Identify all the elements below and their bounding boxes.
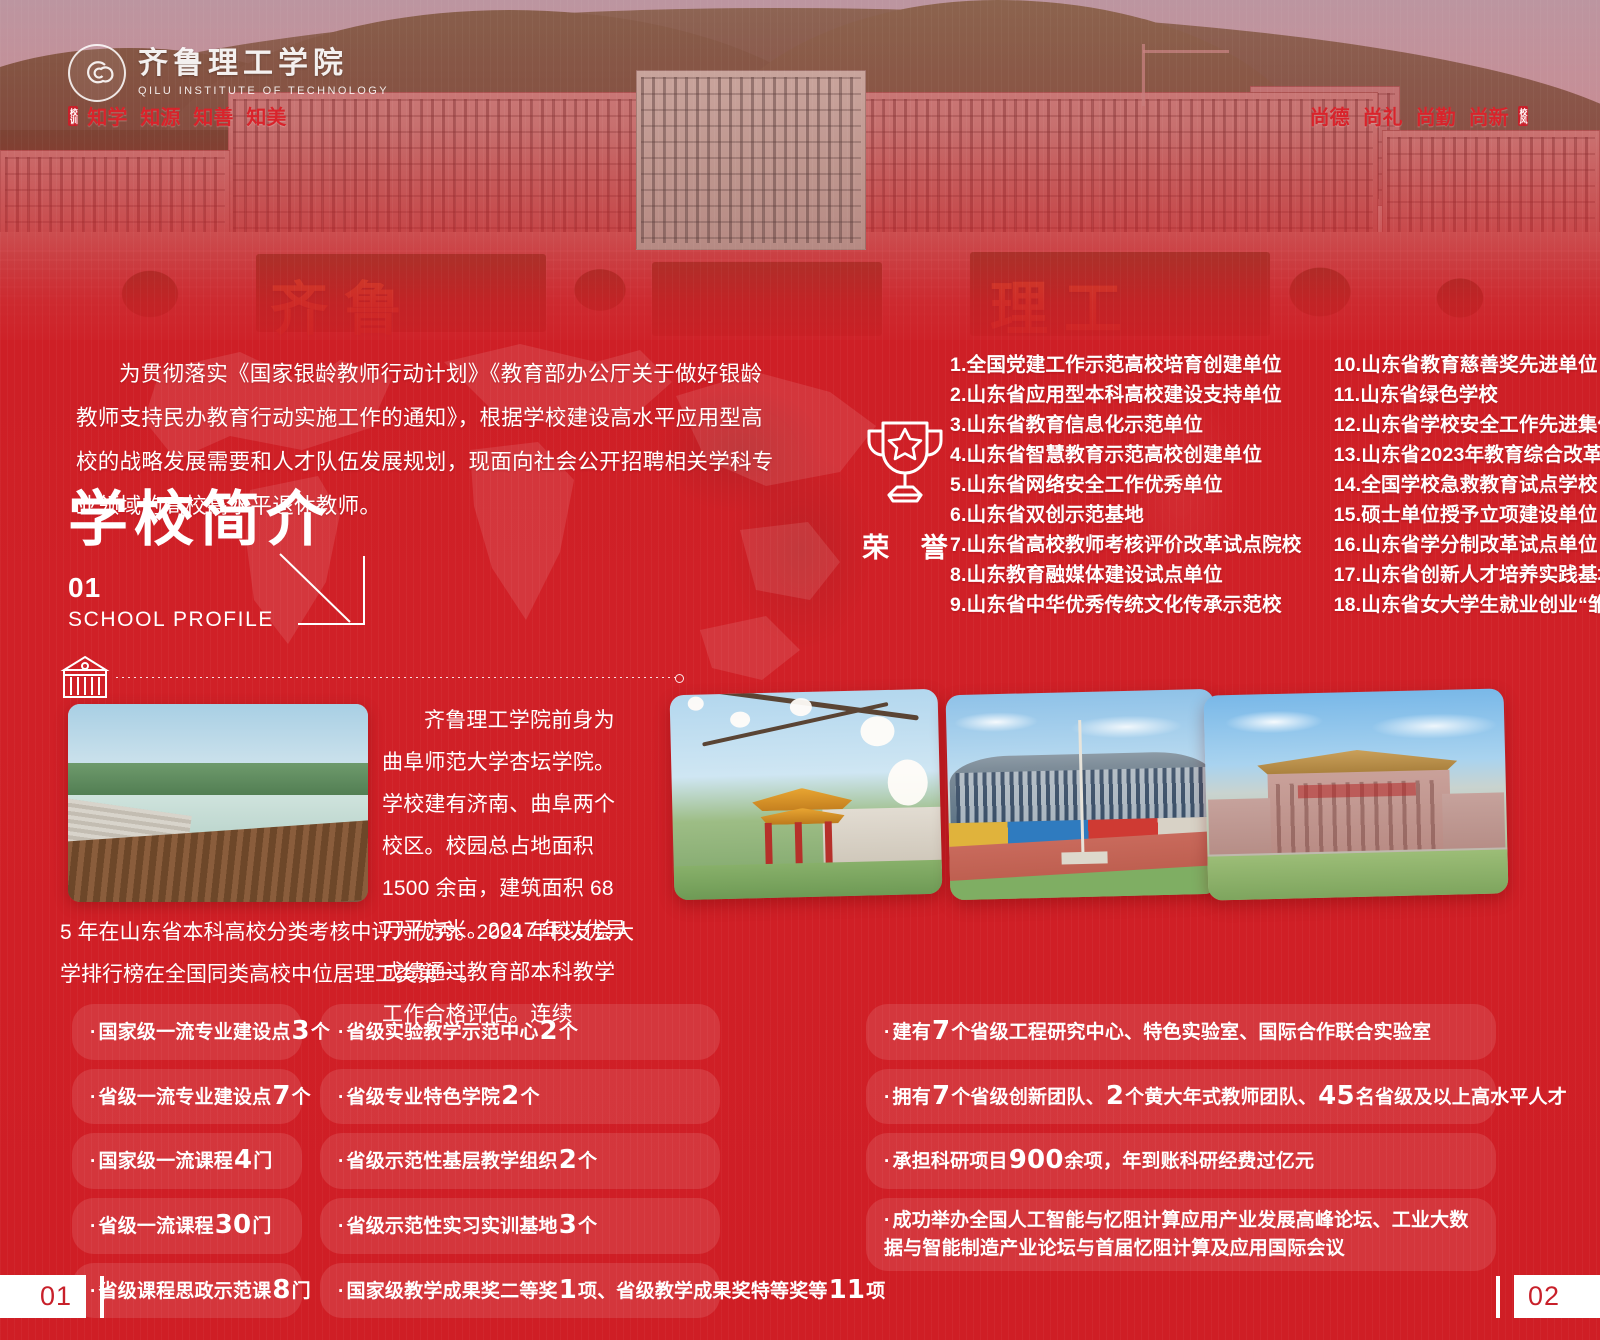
page-rule-left [100, 1276, 104, 1318]
stat-pill-achievements: ·国家级教学成果奖二等奖1项、省级教学成果奖特等奖等11项 [320, 1263, 720, 1319]
stat-number: 11 [828, 1275, 867, 1305]
motto-word: 尚勤 [1416, 101, 1456, 130]
campus-gate-photo [1204, 688, 1509, 900]
blossom [860, 716, 895, 747]
stat-pill: ·省级专业特色学院2个 [320, 1069, 720, 1125]
stat-number: 2 [539, 1016, 559, 1046]
motto-left-words: 知学 知源 知善 知美 [87, 101, 286, 130]
campus-stadium-photo [946, 689, 1219, 900]
motto-word: 知学 [87, 101, 127, 130]
motto-left-tag: 校训 [68, 106, 78, 126]
honor-item: 12.山东省学校安全工作先进集体 [1334, 410, 1600, 440]
stat-text: 国家级一流课程 [99, 1151, 233, 1172]
logo-name-en: QILU INSTITUTE OF TECHNOLOGY [138, 85, 389, 97]
honor-item: 4.山东省智慧教育示范高校创建单位 [950, 440, 1302, 470]
stat-text: 省级示范性基层教学组织 [347, 1151, 558, 1172]
stat-text: 省级实验教学示范中心 [347, 1022, 539, 1043]
stat-unit: 门 [292, 1281, 311, 1302]
motto-word: 尚德 [1310, 101, 1350, 130]
motto-left: 校训 知学 知源 知善 知美 [68, 101, 286, 130]
down-right-arrow-icon [278, 552, 368, 632]
campus-pavilion-photo [670, 689, 943, 900]
motto-word: 尚礼 [1363, 101, 1403, 130]
honor-item: 10.山东省教育慈善奖先进单位 [1334, 350, 1600, 380]
stat-pill: ·省级课程思政示范课8门 [72, 1263, 302, 1319]
stat-text: 个黄大年式教师团队、 [1125, 1087, 1317, 1108]
stat-pill: ·省级一流课程30门 [72, 1198, 302, 1254]
honor-item: 8.山东教育融媒体建设试点单位 [950, 560, 1302, 590]
pavilion-roof-upper [752, 787, 853, 811]
honor-item: 14.全国学校急救教育试点学校 [1334, 470, 1600, 500]
stat-text: 国家级教学成果奖二等奖 [347, 1281, 558, 1302]
motto-word: 知美 [246, 101, 286, 130]
campus-lake-photo [68, 704, 368, 902]
stat-text: 省级示范性实习实训基地 [347, 1216, 558, 1237]
stat-number: 45 [1317, 1081, 1356, 1111]
motto-word: 知源 [140, 101, 180, 130]
stat-number: 4 [233, 1145, 253, 1175]
flag-podium [1061, 851, 1107, 864]
honor-item: 17.山东省创新人才培养实践基地 [1334, 560, 1600, 590]
stat-text: 余项，年到账科研经费过亿元 [1065, 1151, 1315, 1172]
stat-number: 1 [558, 1275, 578, 1305]
blossom [688, 696, 704, 710]
honor-item: 9.山东省中华优秀传统文化传承示范校 [950, 590, 1302, 620]
stat-number: 30 [214, 1210, 253, 1240]
photo-gallery [648, 680, 1528, 915]
page-number-left: 01 [0, 1275, 86, 1318]
motto-right-words: 尚德 尚礼 尚勤 尚新 [1310, 101, 1509, 130]
honor-item: 11.山东省绿色学校 [1334, 380, 1600, 410]
stat-number: 7 [271, 1081, 291, 1111]
profile-text-bottom: 5 年在山东省本科高校分类考核中评为优秀。2024 年校友会大学排行榜在全国同类… [60, 912, 640, 996]
stat-text: 国家级一流专业建设点 [99, 1022, 291, 1043]
school-logo: 齐鲁理工学院 QILU INSTITUTE OF TECHNOLOGY [68, 44, 389, 102]
motto-word: 知善 [193, 101, 233, 130]
stat-text: 建有 [893, 1022, 931, 1043]
honor-item: 18.山东省女大学生就业创业“雏凤”巢 [1334, 590, 1600, 620]
honors-column-right: 10.山东省教育慈善奖先进单位 11.山东省绿色学校 12.山东省学校安全工作先… [1334, 350, 1600, 620]
stat-unit: 个 [292, 1087, 311, 1108]
motto-word: 尚新 [1469, 101, 1509, 130]
stat-text: 名省级及以上高水平人才 [1356, 1087, 1567, 1108]
gate-wing-right [1442, 792, 1505, 853]
stat-pill: ·国家级一流专业建设点3个 [72, 1004, 302, 1060]
honor-item: 16.山东省学分制改革试点单位 [1334, 530, 1600, 560]
blossom [730, 711, 750, 727]
stat-unit: 个 [559, 1022, 578, 1043]
stat-pill: ·省级示范性实习实训基地3个 [320, 1198, 720, 1254]
stat-pill: ·省级一流专业建设点7个 [72, 1069, 302, 1125]
lake-treeline [68, 763, 368, 799]
honor-item: 6.山东省双创示范基地 [950, 500, 1302, 530]
honor-item: 1.全国党建工作示范高校培育创建单位 [950, 350, 1302, 380]
stat-number: 8 [271, 1275, 291, 1305]
page-number-right-group: 02 [1496, 1275, 1600, 1318]
stat-number: 3 [558, 1210, 578, 1240]
brochure-page: 齐鲁 理工 齐鲁理工学院 QILU INSTITUTE [0, 0, 1600, 1340]
stat-unit: 门 [253, 1151, 272, 1172]
building-center-tower [636, 70, 866, 250]
blossom [887, 759, 928, 806]
honors-list: 1.全国党建工作示范高校培育创建单位 2.山东省应用型本科高校建设支持单位 3.… [950, 350, 1600, 620]
clouds [1204, 694, 1505, 751]
stat-text: 项、省级教学成果奖特等奖等 [578, 1281, 828, 1302]
motto-right: 尚德 尚礼 尚勤 尚新 校风 [1310, 101, 1528, 130]
logo-name-cn: 齐鲁理工学院 [138, 49, 389, 79]
stat-pill-research-centers: ·建有7个省级工程研究中心、特色实验室、国际合作联合实验室 [866, 1004, 1496, 1060]
stat-text: 承担科研项目 [893, 1151, 1008, 1172]
stat-number: 2 [558, 1145, 578, 1175]
honor-item: 15.硕士单位授予立项建设单位 [1334, 500, 1600, 530]
page-rule-right [1496, 1276, 1500, 1318]
honor-item: 7.山东省高校教师考核评价改革试点院校 [950, 530, 1302, 560]
divider [60, 646, 680, 708]
honor-item: 5.山东省网络安全工作优秀单位 [950, 470, 1302, 500]
stat-text: 个省级工程研究中心、特色实验室、国际合作联合实验室 [951, 1022, 1431, 1043]
stat-number: 7 [931, 1081, 951, 1111]
stat-number: 2 [1105, 1081, 1125, 1111]
stat-text: 成功举办全国人工智能与忆阻计算应用产业发展高峰论坛、工业大数据与智能制造产业论坛… [884, 1210, 1469, 1259]
stat-unit: 个 [578, 1216, 597, 1237]
stat-pill-teams: ·拥有7个省级创新团队、2个黄大年式教师团队、45名省级及以上高水平人才 [866, 1069, 1496, 1125]
honor-item: 13.山东省2023年教育综合改革典型案例 [1334, 440, 1600, 470]
lawn [674, 860, 943, 901]
stat-text: 省级专业特色学院 [347, 1087, 501, 1108]
trophy-star-icon [853, 415, 957, 511]
lawn [1207, 849, 1508, 900]
stat-pill-forums: ·成功举办全国人工智能与忆阻计算应用产业发展高峰论坛、工业大数据与智能制造产业论… [866, 1198, 1496, 1271]
dotted-connector [116, 677, 680, 678]
stat-unit: 门 [252, 1216, 271, 1237]
stat-pill: ·国家级一流课程4门 [72, 1133, 302, 1189]
campus-building-icon [60, 653, 110, 701]
stat-number: 2 [500, 1081, 520, 1111]
stat-unit: 个 [578, 1151, 597, 1172]
honor-item: 2.山东省应用型本科高校建设支持单位 [950, 380, 1302, 410]
page-number-left-group: 01 [0, 1275, 104, 1318]
spiral-seal-logo-icon [68, 44, 126, 102]
stat-pill: ·省级示范性基层教学组织2个 [320, 1133, 720, 1189]
stat-unit: 项 [866, 1281, 885, 1302]
gate-wing-left [1208, 798, 1271, 859]
stat-pill: ·省级实验教学示范中心2个 [320, 1004, 720, 1060]
stat-text: 省级一流专业建设点 [99, 1087, 272, 1108]
page-title: 学校简介 [68, 490, 332, 550]
stat-pill-projects: ·承担科研项目900余项，年到账科研经费过亿元 [866, 1133, 1496, 1189]
motto-right-tag: 校风 [1518, 106, 1528, 126]
stat-unit: 个 [520, 1087, 539, 1108]
stat-text: 个省级创新团队、 [951, 1087, 1105, 1108]
stat-text: 省级课程思政示范课 [99, 1281, 272, 1302]
stat-text: 省级一流课程 [99, 1216, 214, 1237]
page-number-right: 02 [1514, 1275, 1600, 1318]
stat-number: 7 [931, 1016, 951, 1046]
honor-item: 3.山东省教育信息化示范单位 [950, 410, 1302, 440]
honors-column-left: 1.全国党建工作示范高校培育创建单位 2.山东省应用型本科高校建设支持单位 3.… [950, 350, 1302, 620]
blossom [790, 698, 812, 717]
stat-number: 900 [1008, 1145, 1065, 1175]
stat-text: 拥有 [893, 1087, 931, 1108]
stats-left-group: ·国家级一流专业建设点3个 ·省级实验教学示范中心2个 ·省级一流专业建设点7个… [72, 1004, 732, 1318]
stat-number: 3 [291, 1016, 311, 1046]
stats-right-group: ·建有7个省级工程研究中心、特色实验室、国际合作联合实验室 ·拥有7个省级创新团… [866, 1004, 1496, 1271]
